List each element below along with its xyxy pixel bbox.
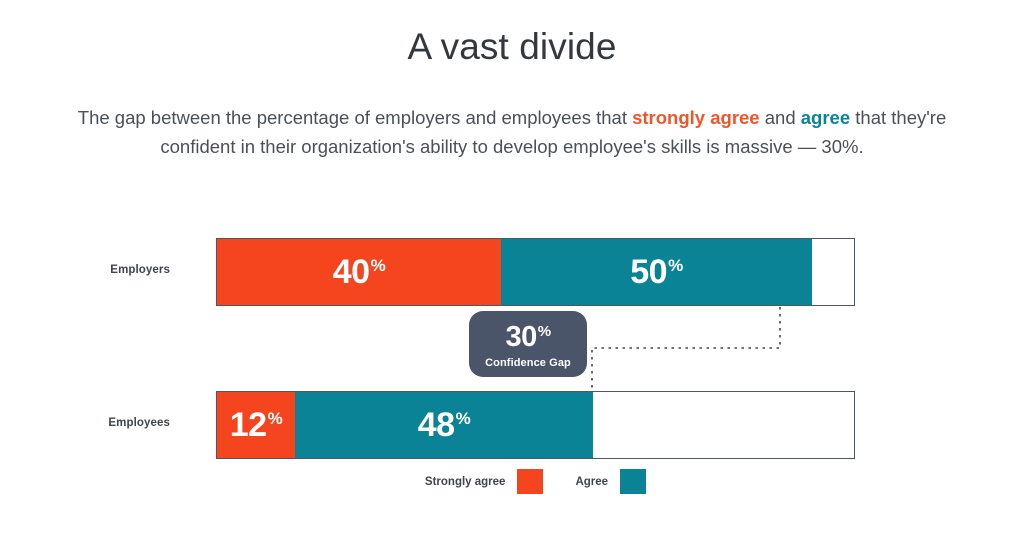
infographic-canvas: A vast divide The gap between the percen… <box>0 0 1024 546</box>
legend-label-strongly-agree: Strongly agree <box>425 476 506 488</box>
bar-employees: 12% 48% <box>216 391 855 459</box>
bar-segment-employees-strongly-agree: 12% <box>217 392 295 458</box>
legend-label-agree: Agree <box>575 476 608 488</box>
legend-swatch-strongly-agree <box>517 469 543 494</box>
bar-employers: 40% 50% <box>216 238 855 306</box>
legend-swatch-agree <box>620 469 646 494</box>
bar-value-employees-strongly-agree: 12% <box>230 408 282 442</box>
stacked-bar-chart: Employers 40% 50% Employees 12% <box>0 0 1024 546</box>
bar-segment-employees-agree: 48% <box>295 392 593 458</box>
legend-item-strongly-agree: Strongly agree <box>425 469 544 494</box>
bar-segment-employers-agree: 50% <box>501 239 812 305</box>
bar-label-employers: Employers <box>80 264 170 276</box>
legend-item-agree: Agree <box>575 469 646 494</box>
bar-value-employers-strongly-agree: 40% <box>333 255 385 289</box>
confidence-gap-badge: 30% Confidence Gap <box>469 311 587 377</box>
bar-segment-employers-strongly-agree: 40% <box>217 239 501 305</box>
confidence-gap-caption: Confidence Gap <box>485 357 571 369</box>
bar-value-employees-agree: 48% <box>418 408 470 442</box>
chart-legend: Strongly agree Agree <box>216 469 855 494</box>
bar-label-employees: Employees <box>80 417 170 429</box>
confidence-gap-value: 30% <box>505 323 550 352</box>
bar-value-employers-agree: 50% <box>630 255 682 289</box>
